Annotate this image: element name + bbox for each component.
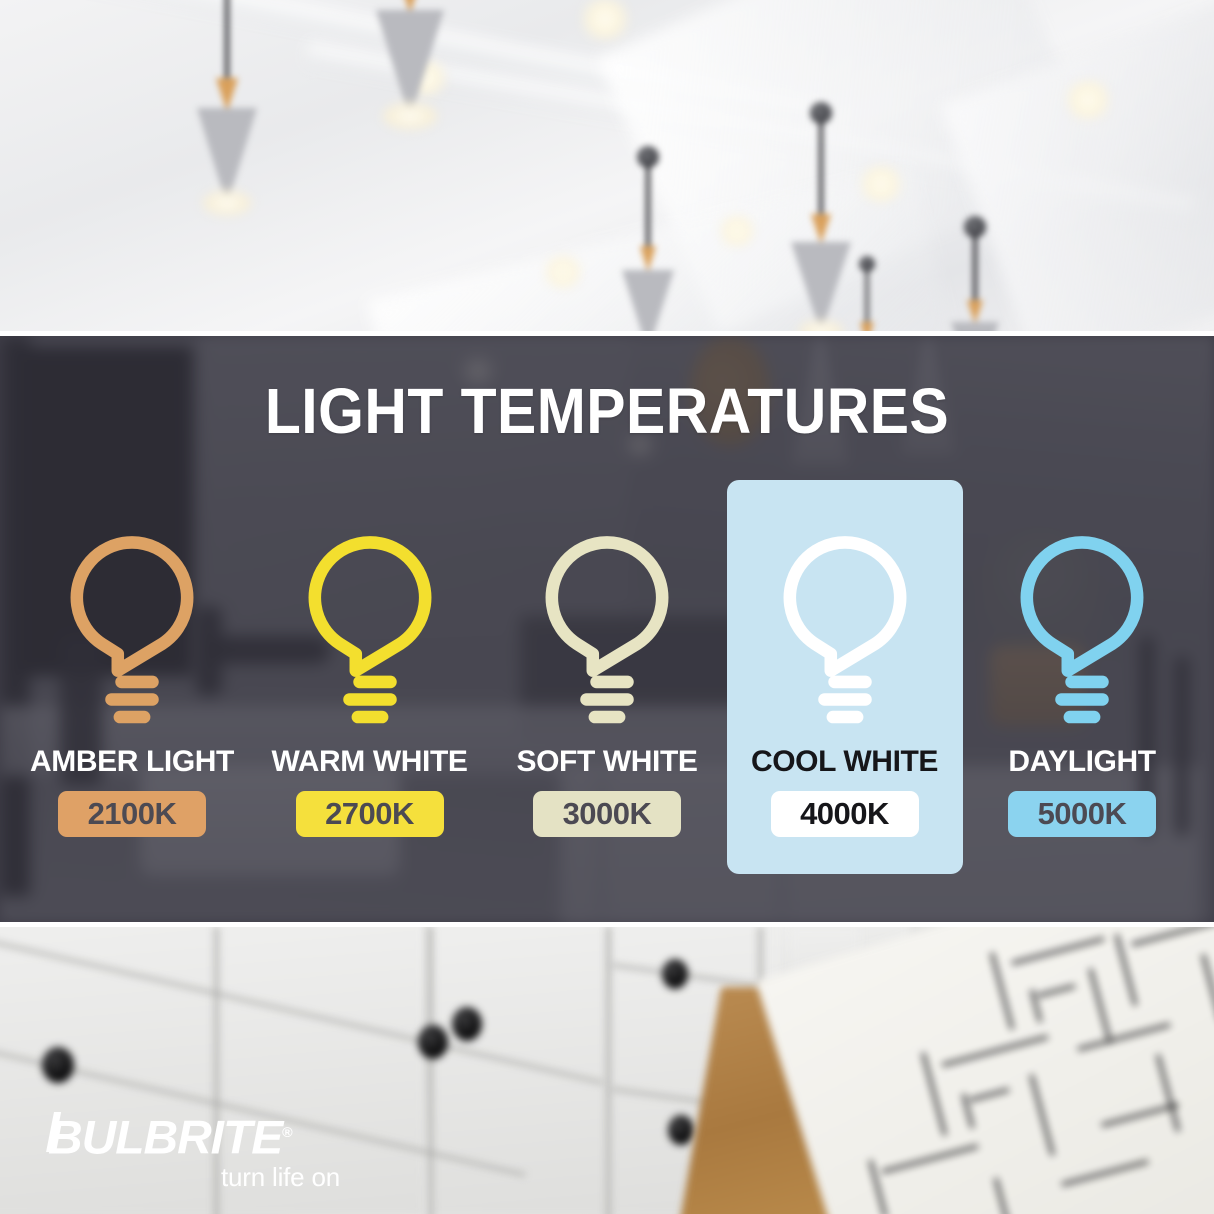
- lightbulb-icon-wrapper: [512, 520, 702, 735]
- divider-top: [0, 331, 1214, 336]
- lightbulb-base-bar: [115, 675, 158, 688]
- pendant-glow: [382, 102, 438, 130]
- kelvin-badge: 2700K: [296, 791, 444, 837]
- lightbulb-icon-wrapper: [987, 520, 1177, 735]
- lightbulb-base-bar: [353, 675, 396, 688]
- pendant-cord: [819, 122, 823, 218]
- brand-logo: BULBRITE® turn life on: [48, 1108, 348, 1191]
- registered-mark: ®: [282, 1124, 293, 1140]
- pendant-wood-top: [967, 300, 983, 324]
- cabinet-knob: [42, 1047, 74, 1083]
- brand-tagline: turn life on: [48, 1163, 348, 1191]
- lightbulb-icon: [761, 526, 929, 730]
- kelvin-badge: 2100K: [58, 791, 206, 837]
- pendant-shade: [951, 322, 999, 331]
- pendant-wood-top: [216, 78, 238, 112]
- temperature-card-daylight[interactable]: DAYLIGHT5000K: [964, 480, 1200, 874]
- lightbulb-base-bar: [818, 693, 872, 706]
- lightbulb-icon: [48, 526, 216, 730]
- lightbulb-base-bar: [105, 693, 159, 706]
- brand-name: BULBRITE: [48, 1111, 282, 1164]
- pendant-glow: [202, 190, 252, 216]
- cabinet-knob: [452, 1007, 482, 1041]
- temperature-card-cool-white[interactable]: COOL WHITE4000K: [727, 480, 963, 874]
- top-photo-ceiling-lights: [0, 0, 1214, 331]
- lightbulb-icon-wrapper: [37, 520, 227, 735]
- infographic-root: LIGHT TEMPERATURES AMBER LIGHT2100KWARM …: [0, 0, 1214, 1214]
- lightbulb-base-bar: [580, 693, 634, 706]
- pendant-wood-top: [811, 214, 831, 244]
- pendant-lamp: [340, 0, 480, 174]
- lightbulb-icon-wrapper: [750, 520, 940, 735]
- kelvin-badge: 3000K: [533, 791, 681, 837]
- recessed-downlight: [1060, 80, 1116, 120]
- pendant-wood-top: [860, 322, 874, 331]
- temperature-card-row: AMBER LIGHT2100KWARM WHITE2700KSOFT WHIT…: [0, 480, 1214, 880]
- lightbulb-base-bar: [343, 693, 397, 706]
- pendant-cord: [866, 270, 869, 326]
- cabinet-knob: [662, 959, 688, 989]
- cabinet-knob: [668, 1115, 694, 1145]
- pendant-lamp: [832, 262, 902, 331]
- temperature-card-warm-white[interactable]: WARM WHITE2700K: [252, 480, 488, 874]
- pendant-cord: [225, 0, 229, 82]
- temperature-card-soft-white[interactable]: SOFT WHITE3000K: [489, 480, 725, 874]
- kelvin-badge: 5000K: [1008, 791, 1156, 837]
- lightbulb-icon: [523, 526, 691, 730]
- temperature-name: SOFT WHITE: [517, 745, 698, 779]
- lightbulb-base-bar: [351, 710, 388, 723]
- pendant-wood-top: [640, 246, 656, 272]
- temperature-name: AMBER LIGHT: [30, 745, 234, 779]
- pendant-lamp: [598, 152, 698, 331]
- pendant-lamp: [172, 0, 282, 240]
- lightbulb-base-bar: [828, 675, 871, 688]
- pendant-canopy: [810, 102, 832, 124]
- cabinet-knob: [418, 1025, 448, 1059]
- temperature-name: WARM WHITE: [272, 745, 468, 779]
- lightbulb-base-bar: [1065, 675, 1108, 688]
- lightbulb-icon-wrapper: [275, 520, 465, 735]
- recessed-downlight: [715, 215, 759, 247]
- patterned-rug: [756, 927, 1214, 1214]
- temperature-name: COOL WHITE: [751, 745, 938, 779]
- cabinet-seam: [606, 927, 611, 1214]
- lightbulb-icon: [286, 526, 454, 730]
- pendant-cord: [646, 164, 650, 250]
- lightbulb-base-bar: [1055, 693, 1109, 706]
- kelvin-badge: 4000K: [771, 791, 919, 837]
- lightbulb-base-bar: [114, 710, 151, 723]
- lightbulb-icon: [998, 526, 1166, 730]
- divider-bottom: [0, 922, 1214, 927]
- pendant-lamp: [930, 222, 1020, 331]
- lightbulb-base-bar: [589, 710, 626, 723]
- page-title: LIGHT TEMPERATURES: [49, 376, 1166, 446]
- temperature-card-amber-light[interactable]: AMBER LIGHT2100K: [14, 480, 250, 874]
- temperature-name: DAYLIGHT: [1008, 745, 1155, 779]
- lightbulb-base-bar: [590, 675, 633, 688]
- recessed-downlight: [575, 0, 635, 40]
- recessed-downlight: [540, 255, 586, 289]
- lightbulb-base-bar: [826, 710, 863, 723]
- lightbulb-base-bar: [1064, 710, 1101, 723]
- pendant-cord: [973, 234, 977, 304]
- brand-wordmark: BULBRITE®: [48, 1108, 354, 1162]
- pendant-shade: [622, 270, 674, 331]
- cabinet-seam: [428, 927, 433, 1214]
